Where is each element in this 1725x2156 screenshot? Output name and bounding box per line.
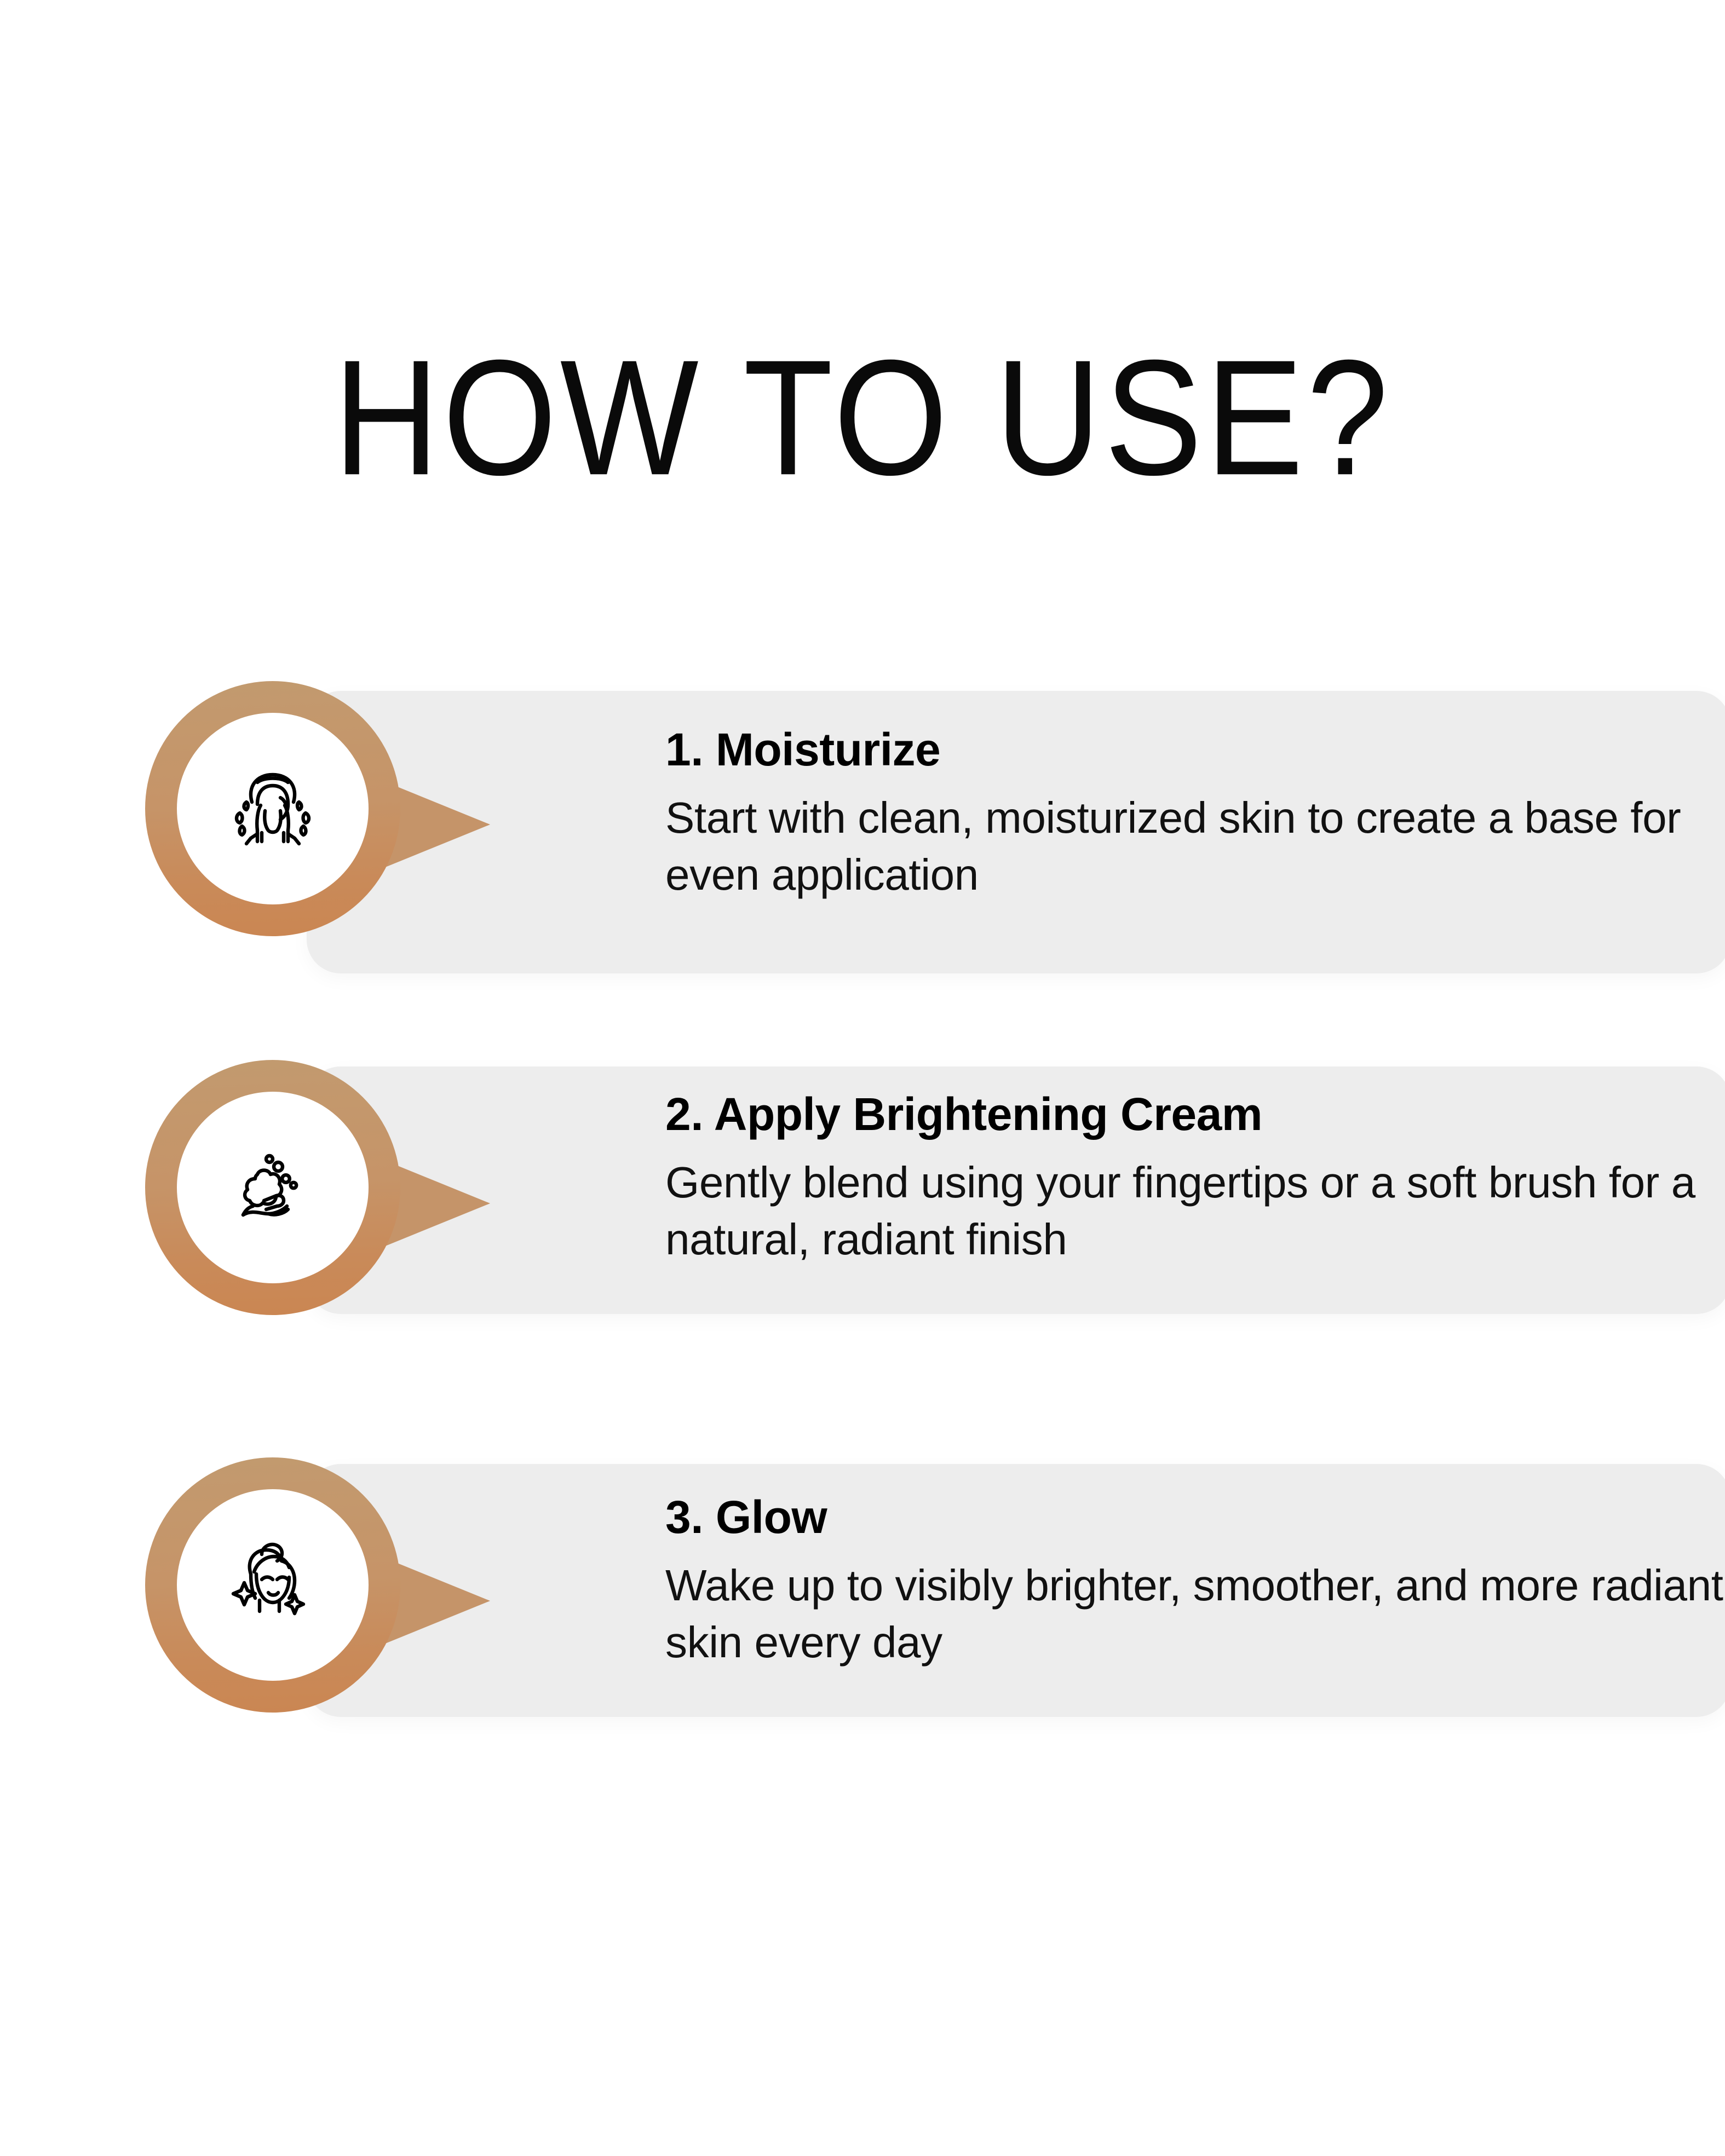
badge-inner-circle <box>177 1489 369 1681</box>
step-title: 1. Moisturize <box>665 724 1725 775</box>
step-title: 3. Glow <box>665 1491 1725 1543</box>
steps-list: 1. Moisturize Start with clean, moisturi… <box>0 0 1725 2156</box>
step-description: Wake up to visibly brighter, smoother, a… <box>665 1557 1725 1671</box>
badge-inner-circle <box>177 1092 369 1283</box>
badge-ring <box>145 1457 400 1713</box>
step-card-text: 2. Apply Brightening Cream Gently blend … <box>665 1088 1725 1268</box>
badge-ring <box>145 1060 400 1315</box>
step-badge <box>137 1060 531 1345</box>
step-card-text: 3. Glow Wake up to visibly brighter, smo… <box>665 1491 1725 1671</box>
hand-with-foam-icon <box>218 1133 327 1242</box>
step-badge <box>137 1457 531 1742</box>
badge-ring <box>145 681 400 936</box>
step-description: Start with clean, moisturized skin to cr… <box>665 789 1725 903</box>
step-title: 2. Apply Brightening Cream <box>665 1088 1725 1140</box>
glowing-face-icon <box>218 1530 327 1640</box>
badge-inner-circle <box>177 713 369 904</box>
face-washing-icon <box>218 754 327 863</box>
step-description: Gently blend using your fingertips or a … <box>665 1154 1725 1268</box>
step-card-text: 1. Moisturize Start with clean, moisturi… <box>665 724 1725 903</box>
step-badge <box>137 681 531 966</box>
